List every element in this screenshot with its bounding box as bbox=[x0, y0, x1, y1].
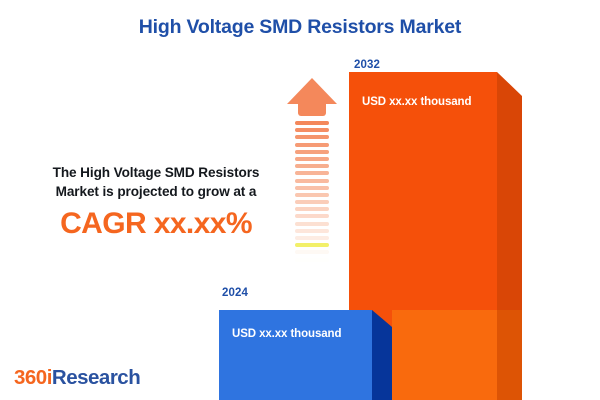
arrow-stripe bbox=[295, 128, 329, 132]
bar-label-2024: 2024 bbox=[222, 287, 248, 299]
page-title: High Voltage SMD Resistors Market bbox=[0, 16, 600, 39]
infographic-canvas: High Voltage SMD Resistors Market 2032 U… bbox=[0, 0, 600, 400]
growth-arrow-icon bbox=[287, 78, 337, 286]
arrow-stripe bbox=[295, 171, 329, 175]
arrow-stripe bbox=[295, 121, 329, 125]
arrow-stripe bbox=[295, 164, 329, 168]
logo-360: 360 bbox=[14, 366, 47, 389]
bar-2032-lower-front bbox=[392, 310, 497, 400]
arrow-stripe bbox=[295, 193, 329, 197]
arrow-stripe bbox=[295, 236, 329, 240]
bar-value-2024: USD xx.xx thousand bbox=[232, 328, 341, 340]
arrow-stripe bbox=[295, 243, 329, 247]
arrow-stripe bbox=[295, 150, 329, 154]
arrow-stripe bbox=[295, 214, 329, 218]
arrow-stripe bbox=[295, 229, 329, 233]
arrow-head-icon bbox=[287, 78, 337, 104]
arrow-stripe bbox=[295, 250, 329, 254]
callout-text: The High Voltage SMD Resistors Market is… bbox=[22, 163, 290, 241]
logo-research: Research bbox=[52, 366, 140, 389]
arrow-stripe bbox=[295, 258, 329, 262]
bar-2024-front bbox=[219, 310, 372, 400]
arrow-stripe bbox=[295, 200, 329, 204]
arrow-stripe bbox=[295, 207, 329, 211]
arrow-stripes bbox=[295, 121, 329, 265]
bar-2032-lower-side bbox=[497, 310, 522, 400]
arrow-stripe bbox=[295, 143, 329, 147]
callout-line-2: Market is projected to grow at a bbox=[22, 182, 290, 201]
arrow-stripe bbox=[295, 179, 329, 183]
arrow-stripe bbox=[295, 186, 329, 190]
bar-value-2032: USD xx.xx thousand bbox=[362, 96, 471, 108]
cagr-value: CAGR xx.xx% bbox=[22, 207, 290, 241]
arrow-stripe bbox=[295, 135, 329, 139]
bar-label-2032: 2032 bbox=[354, 59, 380, 71]
arrow-stripe bbox=[295, 157, 329, 161]
callout-line-1: The High Voltage SMD Resistors bbox=[22, 163, 290, 182]
arrow-neck bbox=[298, 103, 326, 116]
arrow-stripe bbox=[295, 222, 329, 226]
brand-logo[interactable]: 360iResearch bbox=[14, 366, 140, 390]
